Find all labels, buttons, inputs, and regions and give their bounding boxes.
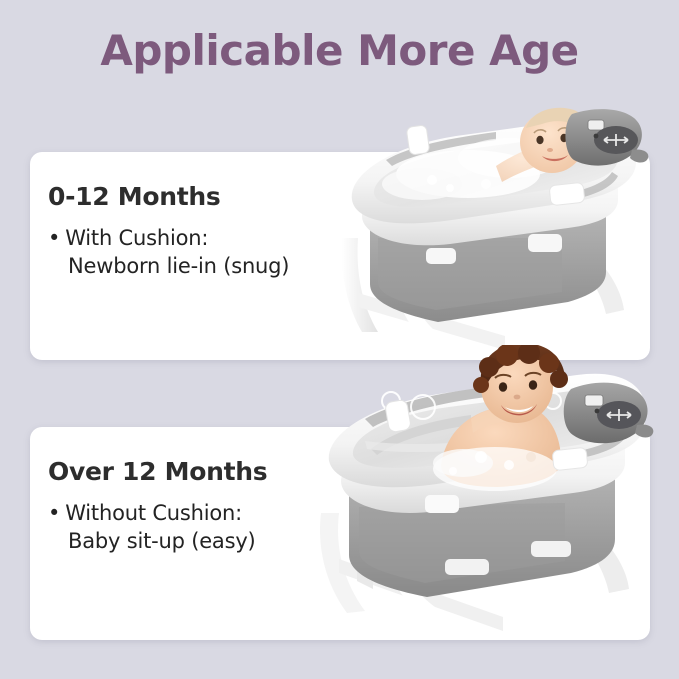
page-title: Applicable More Age — [0, 26, 679, 75]
age-card-0-12-months-bullet-secondary: Newborn lie-in (snug) — [48, 253, 289, 281]
bullet-primary-text: Without Cushion: — [65, 501, 242, 525]
age-card-0-12-months-text: 0-12 Months •With Cushion: Newborn lie-i… — [48, 182, 289, 280]
age-card-over-12-months-bullet-secondary: Baby sit-up (easy) — [48, 528, 267, 556]
age-card-0-12-months-bullet-primary: •With Cushion: — [48, 225, 289, 253]
infographic-page: Applicable More Age 0-12 Months •With Cu… — [0, 0, 679, 679]
bullet-dot-icon: • — [48, 226, 60, 250]
age-card-over-12-months-text: Over 12 Months •Without Cushion: Baby si… — [48, 457, 267, 555]
age-card-over-12-months-bullet-primary: •Without Cushion: — [48, 500, 267, 528]
bullet-dot-icon: • — [48, 501, 60, 525]
age-card-0-12-months: 0-12 Months •With Cushion: Newborn lie-i… — [30, 152, 650, 360]
age-card-0-12-months-heading: 0-12 Months — [48, 182, 289, 211]
bullet-primary-text: With Cushion: — [65, 226, 208, 250]
age-card-over-12-months: Over 12 Months •Without Cushion: Baby si… — [30, 427, 650, 640]
age-card-over-12-months-heading: Over 12 Months — [48, 457, 267, 486]
